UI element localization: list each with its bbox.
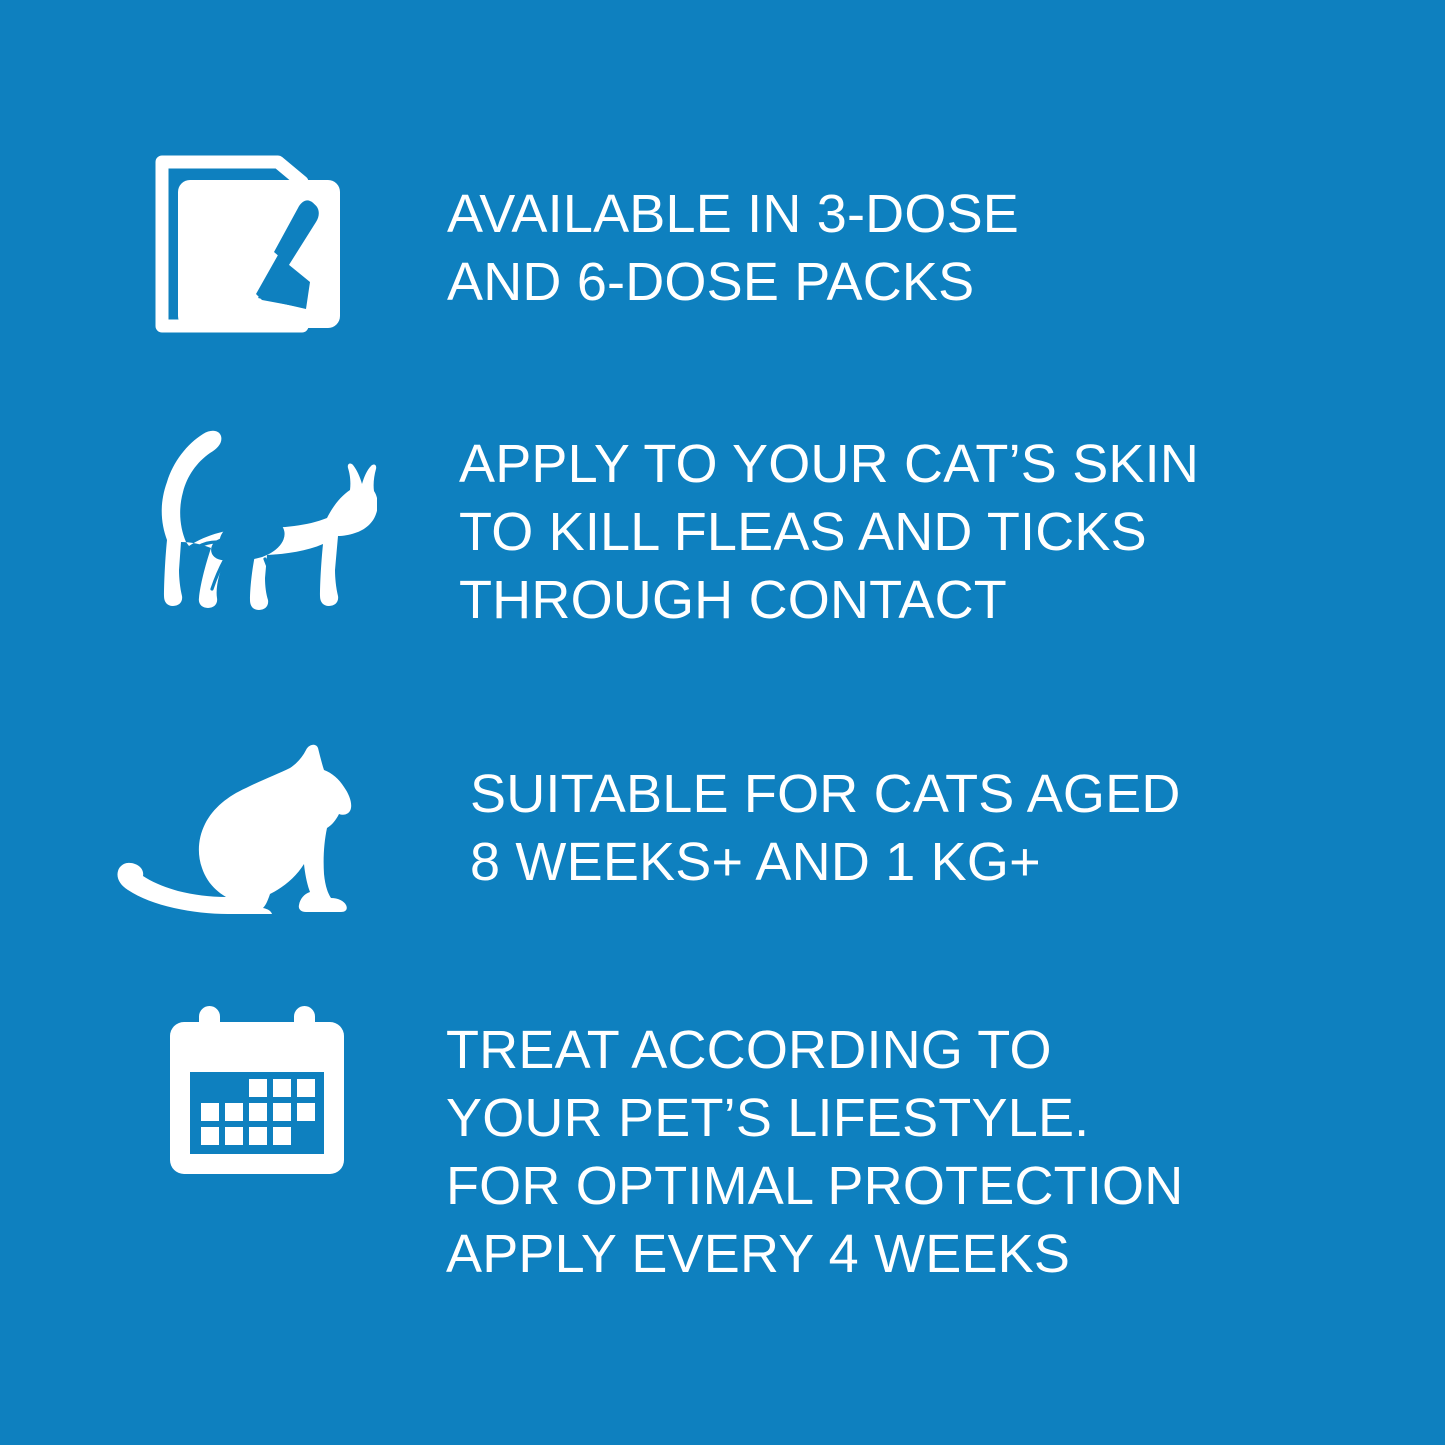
dose-pack-box-icon: [150, 148, 370, 343]
walking-cat-with-flea-icon: [145, 418, 377, 630]
feature-text-schedule: TREAT ACCORDING TO YOUR PET’S LIFESTYLE.…: [446, 1016, 1326, 1288]
infographic-panel: AVAILABLE IN 3-DOSE AND 6-DOSE PACKS: [0, 0, 1445, 1445]
sitting-cat-icon: [110, 742, 358, 918]
feature-text-age: SUITABLE FOR CATS AGED 8 WEEKS+ AND 1 KG…: [470, 760, 1300, 896]
feature-row-apply: APPLY TO YOUR CAT’S SKIN TO KILL FLEAS A…: [145, 418, 1305, 634]
feature-text-packs: AVAILABLE IN 3-DOSE AND 6-DOSE PACKS: [447, 180, 1310, 316]
feature-row-schedule: TREAT ACCORDING TO YOUR PET’S LIFESTYLE.…: [166, 1000, 1326, 1288]
feature-row-age: SUITABLE FOR CATS AGED 8 WEEKS+ AND 1 KG…: [110, 742, 1300, 918]
calendar-icon: [166, 1000, 348, 1178]
feature-row-packs: AVAILABLE IN 3-DOSE AND 6-DOSE PACKS: [150, 148, 1310, 343]
feature-text-apply: APPLY TO YOUR CAT’S SKIN TO KILL FLEAS A…: [459, 430, 1305, 634]
